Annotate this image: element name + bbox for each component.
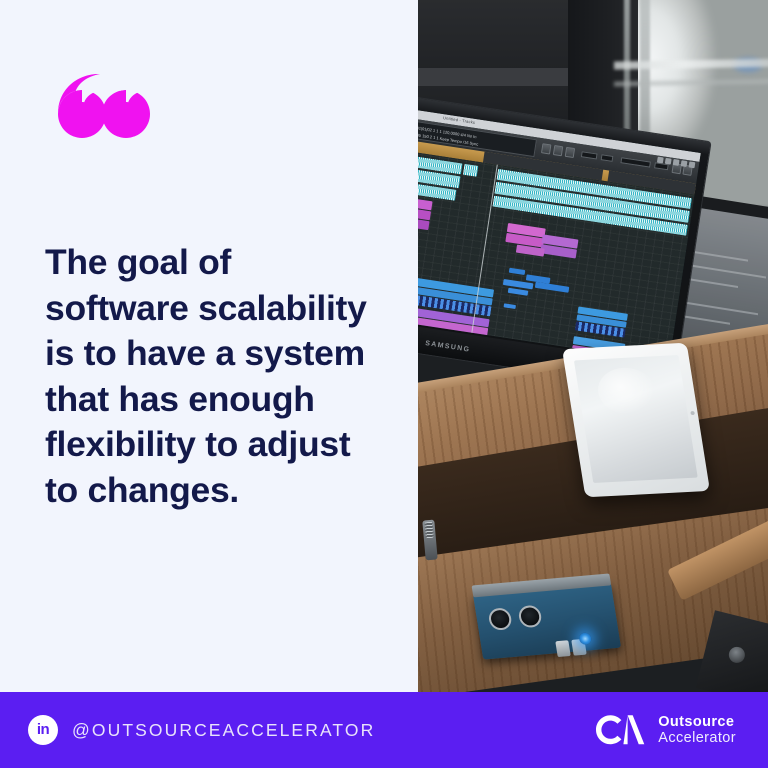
daw-tool-icon[interactable] [689,161,696,168]
daw-tool-icon[interactable] [673,159,680,166]
quote-text: The goal of software scalability is to h… [45,240,375,513]
input-jack [487,607,512,631]
daw-field[interactable] [601,154,614,162]
daw-field[interactable] [620,157,651,167]
daw-tool-icon[interactable] [657,157,664,164]
daw-transport-button[interactable] [565,147,575,158]
quote-panel: The goal of software scalability is to h… [0,0,418,692]
outsource-accelerator-monogram-icon [594,713,646,747]
daw-field[interactable] [581,151,598,159]
tablet-camera-icon [690,411,695,415]
mic-grille [424,522,433,539]
input-jack [517,605,542,629]
tripod-knob [727,645,746,664]
quote-card: Untitled - Tracks 001|01|02 1 1 1 120.00… [0,0,768,768]
photo-scene: Untitled - Tracks 001|01|02 1 1 1 120.00… [418,0,768,692]
monitor-brand-label: SAMSUNG [425,340,471,354]
footer-bar: in @OUTSOURCEACCELERATOR Outsource Accel… [0,692,768,768]
brand-logo-text: Outsource Accelerator [658,714,736,746]
daw-transport-button[interactable] [553,145,563,156]
linkedin-icon[interactable]: in [28,715,58,745]
white-tablet [562,343,710,498]
screen-glare [594,366,659,416]
daw-screen: Untitled - Tracks 001|01|02 1 1 1 120.00… [418,109,701,363]
studio-photo: Untitled - Tracks 001|01|02 1 1 1 120.00… [418,0,768,692]
audio-interface [473,582,621,659]
double-quote-icon [58,74,150,138]
daw-transport-button[interactable] [541,143,551,154]
brand-logo[interactable]: Outsource Accelerator [594,713,740,747]
brand-logo-line-2: Accelerator [658,730,736,746]
social-handle-group[interactable]: in @OUTSOURCEACCELERATOR [28,715,375,745]
social-handle-text: @OUTSOURCEACCELERATOR [72,720,375,741]
tablet-screen [574,355,698,483]
linkedin-label: in [37,722,49,737]
brand-logo-line-1: Outsource [658,714,736,730]
daw-tool-icon[interactable] [665,158,672,165]
gain-knob [555,640,570,657]
daw-tool-icon[interactable] [681,160,688,167]
